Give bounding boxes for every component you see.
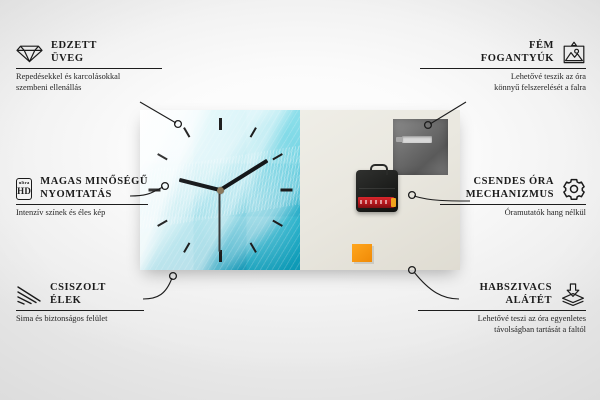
callout-title-high-quality-print: MAGAS MINŐSÉGŰ NYOMTATÁS xyxy=(40,176,148,201)
callout-desc-metal-handles: Lehetővé teszik az óra könnyű felszerelé… xyxy=(420,72,586,93)
foam-pad-sample xyxy=(352,244,372,262)
callout-desc-foam-pad: Lehetővé teszi az óra egyenletes távolsá… xyxy=(418,314,586,335)
wall-mount-icon xyxy=(562,41,586,64)
leader-line-polished-edges xyxy=(143,278,172,299)
mechanism-seam xyxy=(359,188,395,189)
callout-silent-mechanism: CSENDES ÓRA MECHANIZMUS Óramutatók hang … xyxy=(440,176,586,219)
hanger-slot xyxy=(402,136,432,143)
callout-tempered-glass: EDZETT ÜVEG Repedésekkel és karcolásokka… xyxy=(16,40,162,93)
metal-hanger-plate xyxy=(393,119,448,175)
foam-pad-icon xyxy=(560,283,586,306)
product-image xyxy=(140,110,460,270)
callout-rule xyxy=(440,204,586,205)
callout-title-silent-mechanism: CSENDES ÓRA MECHANIZMUS xyxy=(466,176,554,201)
callout-metal-handles: FÉM FOGANTYÚK Lehetővé teszik az óra kön… xyxy=(420,40,586,93)
mechanism-hanging-loop xyxy=(370,164,388,175)
battery xyxy=(358,197,394,208)
clock-hand-cap xyxy=(217,187,224,194)
callout-title-foam-pad: HABSZIVACS ALÁTÉT xyxy=(480,282,552,307)
battery-label xyxy=(360,200,388,204)
ultra-hd-icon-bottom: HD xyxy=(17,187,31,196)
diamond-icon xyxy=(16,43,43,63)
callout-desc-silent-mechanism: Óramutatók hang nélkül xyxy=(440,208,586,219)
callout-high-quality-print: ultra HD MAGAS MINŐSÉGŰ NYOMTATÁS Intenz… xyxy=(16,176,148,219)
callout-title-polished-edges: CSISZOLT ÉLEK xyxy=(50,282,106,307)
callout-rule xyxy=(16,310,144,311)
callout-rule xyxy=(16,68,162,69)
product-feature-infographic: EDZETT ÜVEG Repedésekkel és karcolásokka… xyxy=(0,0,600,400)
callout-polished-edges: CSISZOLT ÉLEK Sima és biztonságos felüle… xyxy=(16,282,144,325)
gear-icon xyxy=(562,177,586,201)
callout-title-metal-handles: FÉM FOGANTYÚK xyxy=(481,40,554,65)
clock-back-panel xyxy=(300,110,460,270)
callout-desc-tempered-glass: Repedésekkel és karcolásokkal szembeni e… xyxy=(16,72,162,93)
callout-rule xyxy=(418,310,586,311)
callout-rule xyxy=(420,68,586,69)
clock-mechanism xyxy=(356,170,398,212)
clock-front-panel xyxy=(140,110,300,270)
leader-dot-polished-edges xyxy=(170,273,177,280)
ultra-hd-icon: ultra HD xyxy=(16,178,32,200)
callout-title-tempered-glass: EDZETT ÜVEG xyxy=(51,40,97,65)
callout-foam-pad: HABSZIVACS ALÁTÉT Lehetővé teszi az óra … xyxy=(418,282,586,335)
callout-desc-polished-edges: Sima és biztonságos felület xyxy=(16,314,144,325)
polished-edges-icon xyxy=(16,285,42,305)
callout-rule xyxy=(16,204,148,205)
callout-desc-high-quality-print: Intenzív színek és éles kép xyxy=(16,208,148,219)
